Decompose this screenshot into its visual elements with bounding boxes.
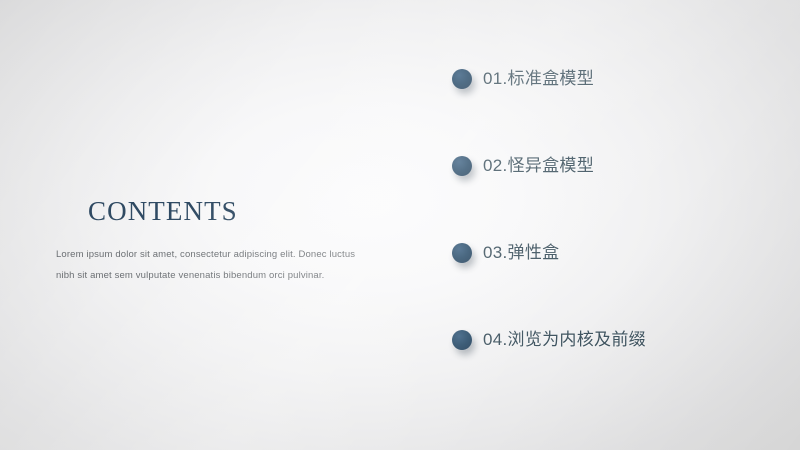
contents-heading-block: CONTENTS Lorem ipsum dolor sit amet, con…: [56, 196, 376, 286]
list-item-label: 01.标准盒模型: [483, 69, 594, 89]
list-item[interactable]: 02.怪异盒模型: [452, 145, 782, 187]
filled-circle-bullet-icon: [452, 156, 472, 176]
list-item-label: 02.怪异盒模型: [483, 156, 594, 176]
list-item[interactable]: 03.弹性盒: [452, 232, 782, 274]
table-of-contents-list: 01.标准盒模型 02.怪异盒模型 03.弹性盒 04.浏览为内核及前缀: [452, 58, 782, 361]
filled-circle-bullet-icon: [452, 69, 472, 89]
list-item-label: 04.浏览为内核及前缀: [483, 330, 646, 350]
slide-canvas: CONTENTS Lorem ipsum dolor sit amet, con…: [0, 0, 800, 450]
list-item[interactable]: 04.浏览为内核及前缀: [452, 319, 782, 361]
list-item-label: 03.弹性盒: [483, 243, 559, 263]
page-title: CONTENTS: [88, 196, 376, 226]
list-item[interactable]: 01.标准盒模型: [452, 58, 782, 100]
page-subtitle: Lorem ipsum dolor sit amet, consectetur …: [56, 244, 356, 286]
filled-circle-bullet-icon: [452, 243, 472, 263]
filled-circle-bullet-icon: [452, 330, 472, 350]
